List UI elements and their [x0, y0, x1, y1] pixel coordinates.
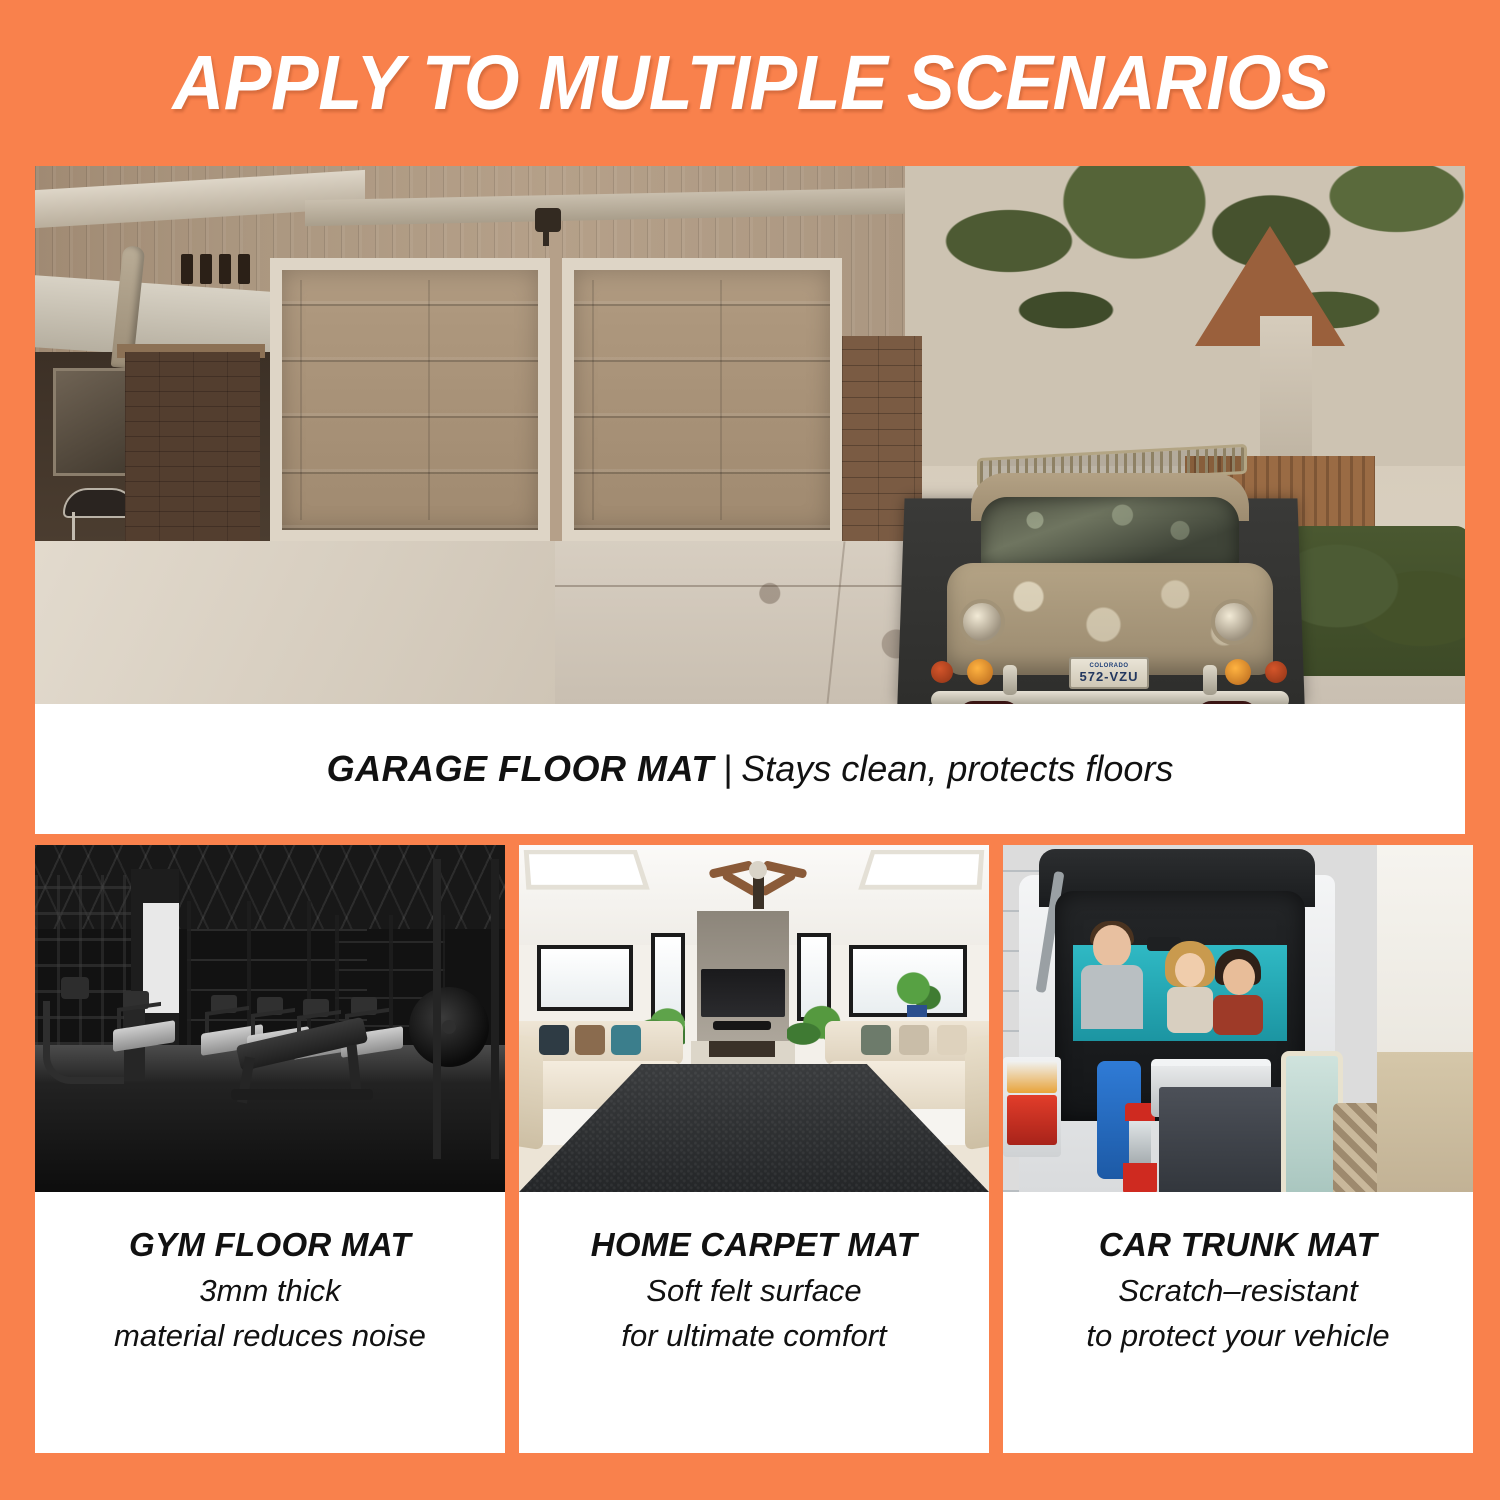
- house-facade: [35, 166, 905, 541]
- headlight-left: [959, 599, 1005, 645]
- throw-pillow: [611, 1025, 641, 1055]
- featured-caption-box: GARAGE FLOOR MAT|Stays clean, protects f…: [35, 704, 1465, 834]
- treadmill: [113, 991, 175, 1055]
- car-trunk-scene: [1003, 845, 1473, 1192]
- gym-caption-heading: GYM FLOOR MAT: [129, 1226, 411, 1264]
- gym-photo: [35, 845, 505, 1192]
- throw-pillow: [539, 1025, 569, 1055]
- throw-pillow: [861, 1025, 891, 1055]
- brick-wall-left: [125, 352, 260, 542]
- caption-separator: |: [723, 748, 732, 789]
- gym-scene: [35, 845, 505, 1192]
- panel-gym-floor-mat: GYM FLOOR MAT 3mm thick material reduces…: [35, 845, 505, 1453]
- skylight-left: [524, 850, 650, 890]
- panel-home-carpet-mat: HOME CARPET MAT Soft felt surface for ul…: [519, 845, 989, 1453]
- home-caption-line1: Soft felt surface: [646, 1273, 861, 1309]
- house-number: [181, 254, 259, 284]
- ceiling-fan: [715, 853, 801, 905]
- car-trunk-photo: [1003, 845, 1473, 1192]
- exterior-light-icon: [535, 208, 561, 232]
- side-marker-right: [1265, 661, 1287, 683]
- garage-door-right: [562, 258, 842, 542]
- panel-car-trunk-mat: CAR TRUNK MAT Scratch–resistant to prote…: [1003, 845, 1473, 1453]
- firebox: [709, 1041, 775, 1057]
- trunk-caption-box: CAR TRUNK MAT Scratch–resistant to prote…: [1003, 1192, 1473, 1453]
- child-boy: [1081, 925, 1143, 1029]
- garage-scene: COLORADO 572-VZU: [35, 166, 1465, 704]
- featured-caption-text: Stays clean, protects floors: [741, 748, 1173, 789]
- gym-caption-line2: material reduces noise: [114, 1318, 426, 1354]
- tree-canopy: [895, 166, 1465, 466]
- page-title: APPLY TO MULTIPLE SCENARIOS: [172, 39, 1328, 128]
- home-caption-box: HOME CARPET MAT Soft felt surface for ul…: [519, 1192, 989, 1453]
- child-second: [1211, 949, 1265, 1035]
- featured-caption-heading: GARAGE FLOOR MAT: [327, 748, 714, 789]
- throw-pillow: [899, 1025, 929, 1055]
- home-caption-heading: HOME CARPET MAT: [591, 1226, 918, 1264]
- weight-bench: [223, 1031, 379, 1109]
- trunk-caption-line1: Scratch–resistant: [1118, 1273, 1358, 1309]
- adult-woman: [1161, 943, 1217, 1033]
- throw-pillow: [575, 1025, 605, 1055]
- trunk-caption-line2: to protect your vehicle: [1086, 1318, 1389, 1354]
- potted-plant-window: [895, 969, 941, 1015]
- featured-panel-garage: COLORADO 572-VZU GARAGE FLOOR MAT|Stays …: [35, 166, 1465, 834]
- gym-caption-line1: 3mm thick: [199, 1273, 340, 1309]
- windshield: [981, 497, 1239, 569]
- squat-rig-post-left: [433, 859, 441, 1159]
- turn-signal-right: [1225, 659, 1251, 685]
- side-marker-left: [931, 661, 953, 683]
- television: [701, 969, 785, 1017]
- standing-person: [1377, 845, 1473, 1192]
- tail-light: [1003, 1057, 1061, 1157]
- gym-caption-box: GYM FLOOR MAT 3mm thick material reduces…: [35, 1192, 505, 1453]
- barbell-plate: [409, 987, 489, 1067]
- garage-photo: COLORADO 572-VZU: [35, 166, 1465, 704]
- license-plate: COLORADO 572-VZU: [1069, 657, 1149, 689]
- throw-pillow: [937, 1025, 967, 1055]
- skylight-right: [858, 850, 984, 890]
- elliptical-machine: [43, 977, 117, 1077]
- hedge-bushes: [1280, 526, 1465, 676]
- living-room-scene: [519, 845, 989, 1192]
- header-banner: APPLY TO MULTIPLE SCENARIOS: [0, 0, 1500, 166]
- living-room-photo: [519, 845, 989, 1192]
- trunk-opening: [1055, 891, 1305, 1121]
- driveway-left-apron: [35, 541, 555, 704]
- patio-chair: [63, 488, 133, 540]
- headlight-right: [1211, 599, 1257, 645]
- vintage-car: COLORADO 572-VZU: [925, 451, 1295, 704]
- garage-door-left: [270, 258, 550, 542]
- turn-signal-left: [967, 659, 993, 685]
- car-trunk-mat: [1159, 1087, 1287, 1192]
- squat-rig-post-right: [491, 859, 499, 1159]
- camping-lantern: [1123, 1103, 1157, 1192]
- window-far-left: [537, 945, 633, 1011]
- license-plate-number: 572-VZU: [1079, 669, 1138, 684]
- featured-caption: GARAGE FLOOR MAT|Stays clean, protects f…: [327, 748, 1174, 790]
- home-caption-line2: for ultimate comfort: [621, 1318, 886, 1354]
- trunk-caption-heading: CAR TRUNK MAT: [1099, 1226, 1377, 1264]
- soundbar: [713, 1021, 771, 1030]
